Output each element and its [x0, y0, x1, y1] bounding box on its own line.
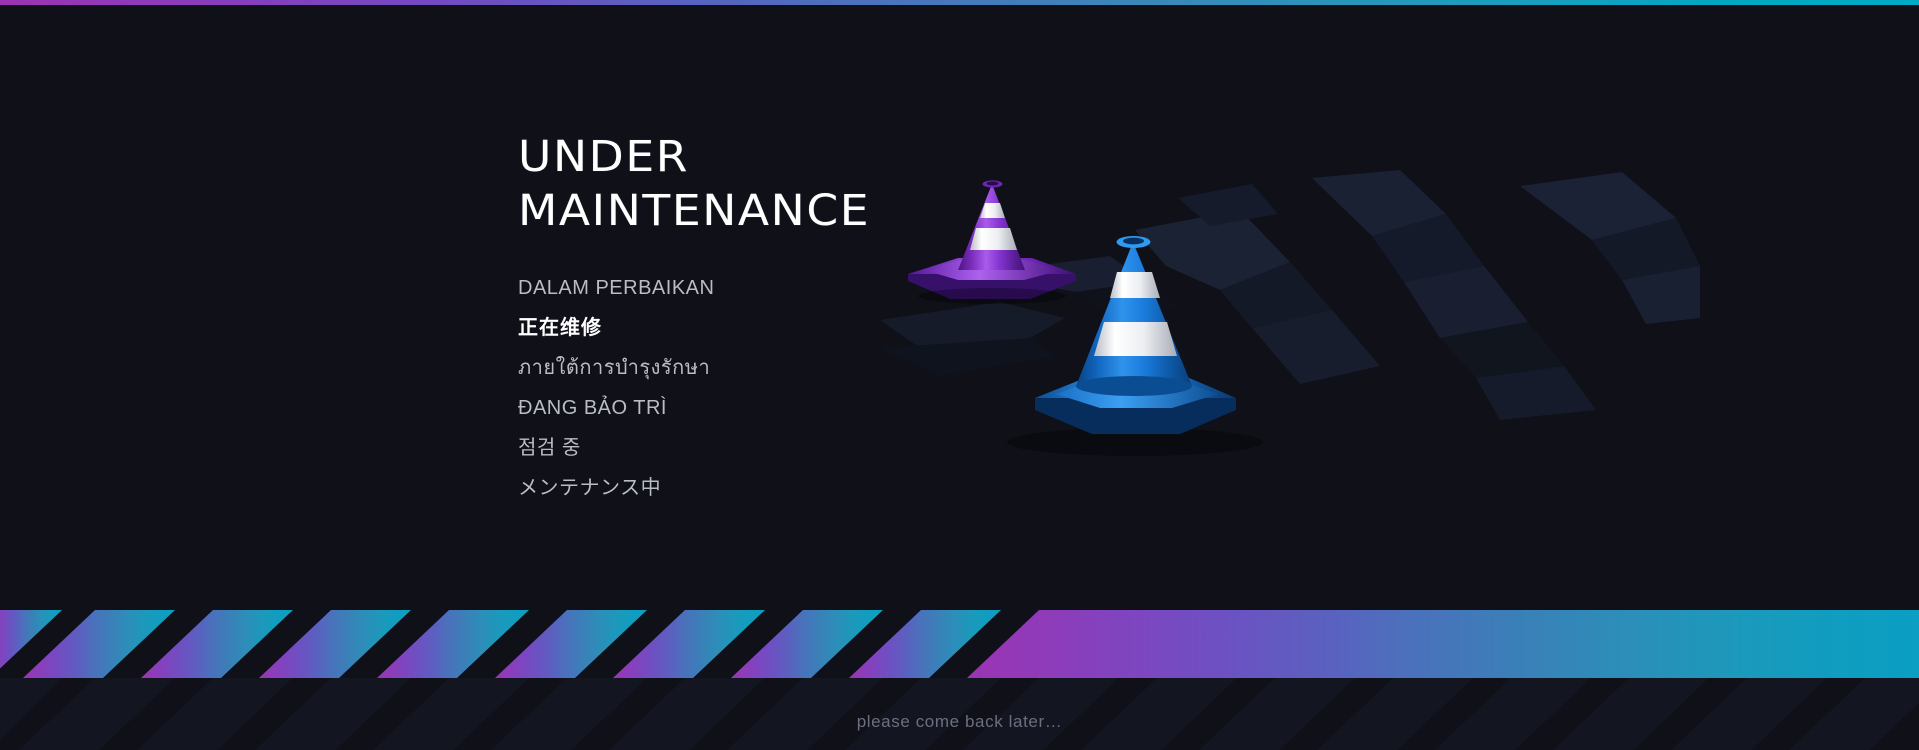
copy-column: UNDER MAINTENANCE DALAM PERBAIKAN正在维修ภาย…: [518, 130, 1158, 508]
translation-item-japanese: メンテナンス中: [518, 468, 1158, 508]
translation-item-vietnamese: ĐANG BẢO TRÌ: [518, 388, 1158, 428]
top-gradient-bar: [0, 0, 1919, 5]
maintenance-page: UNDER MAINTENANCE DALAM PERBAIKAN正在维修ภาย…: [0, 0, 1919, 750]
diagonal-hazard-band: [0, 610, 1919, 678]
translation-item-korean: 점검 중: [518, 428, 1158, 468]
footer-note: please come back later…: [0, 712, 1919, 732]
page-title: UNDER MAINTENANCE: [518, 130, 1196, 238]
translation-item-chinese: 正在维修: [518, 308, 1158, 348]
translation-item-thai: ภายใต้การบำรุงรักษา: [518, 348, 1158, 388]
translations-list: DALAM PERBAIKAN正在维修ภายใต้การบำรุงรักษาĐA…: [518, 268, 1158, 508]
translation-item-indonesian: DALAM PERBAIKAN: [518, 268, 1158, 308]
